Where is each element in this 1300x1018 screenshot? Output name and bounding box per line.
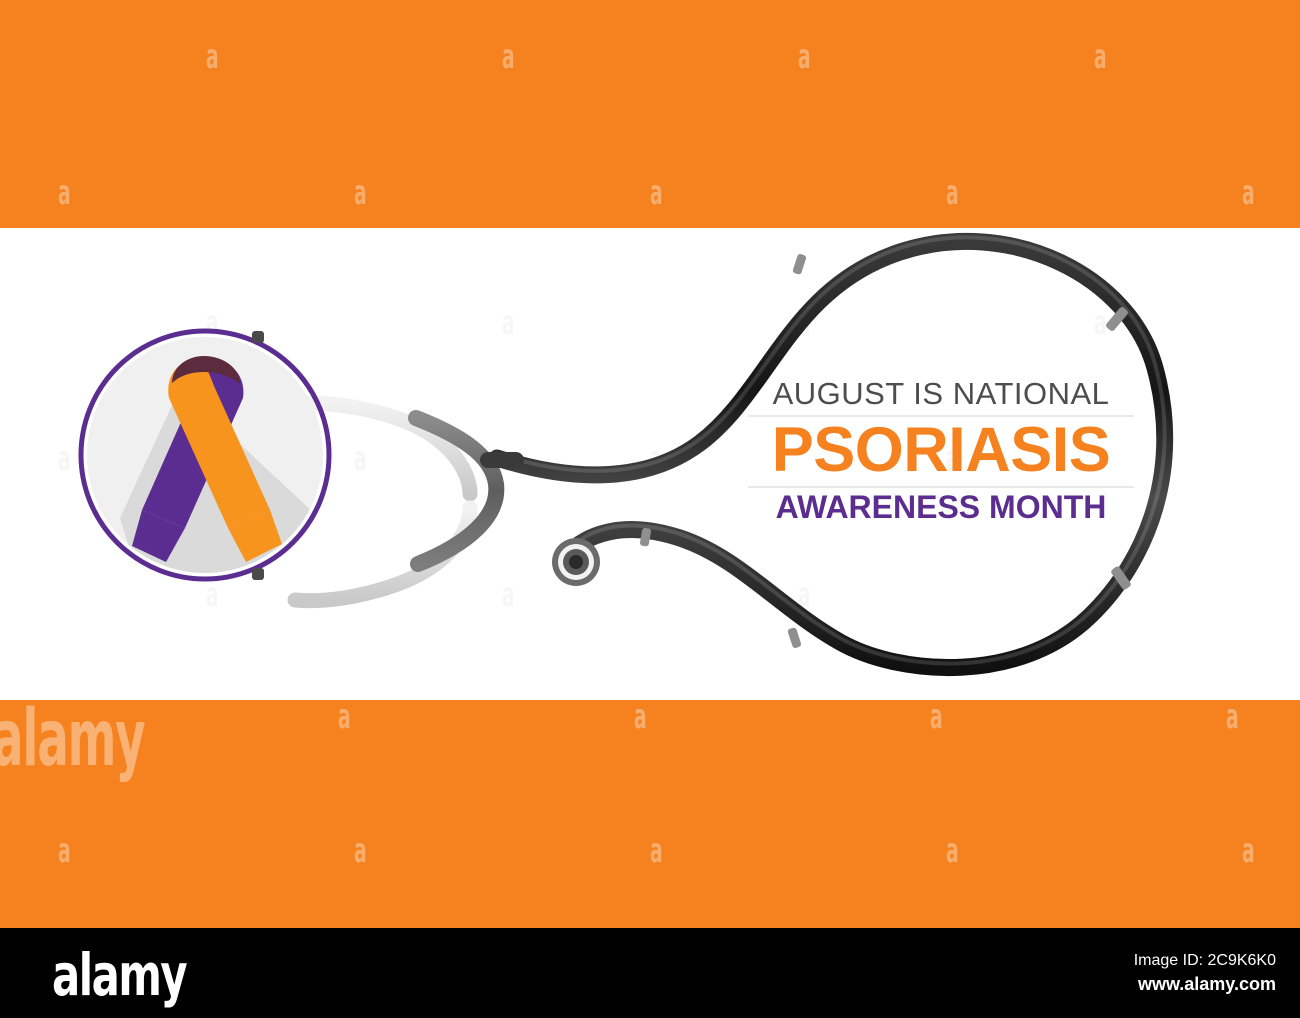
top-orange-band: [0, 0, 1300, 228]
alamy-watermark-bar: alamy Image ID: 2C9K6K0 www.alamy.com: [0, 928, 1300, 1018]
bottom-orange-band: [0, 700, 1300, 928]
divider-bottom: [748, 486, 1134, 488]
alamy-meta: Image ID: 2C9K6K0 www.alamy.com: [1134, 950, 1276, 998]
alamy-logo: alamy: [52, 946, 186, 1004]
headline-sub: AWARENESS MONTH: [748, 490, 1134, 525]
image-id-label: Image ID: 2C9K6K0: [1134, 950, 1276, 972]
poster-canvas: a a a a a a a a a a a a a a a a a a a a …: [0, 0, 1300, 1018]
earpiece-icon: [552, 538, 600, 586]
headline-block: AUGUST IS NATIONAL PSORIASIS AWARENESS M…: [748, 378, 1134, 525]
headline-large: PSORIASIS: [748, 419, 1134, 482]
headline-small: AUGUST IS NATIONAL: [748, 378, 1134, 411]
alamy-url-label: www.alamy.com: [1134, 972, 1276, 997]
